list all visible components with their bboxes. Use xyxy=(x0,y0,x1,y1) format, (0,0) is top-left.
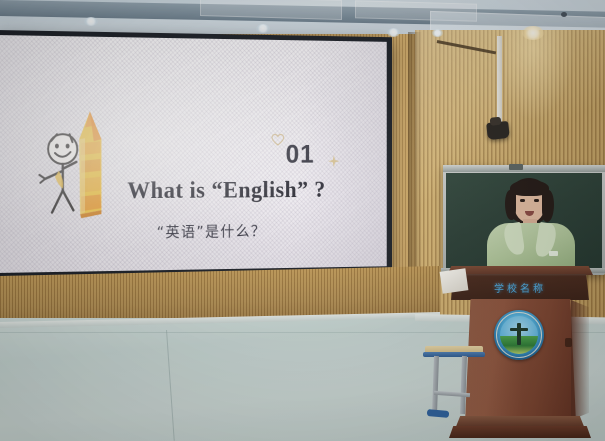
ceiling-downlight-icon xyxy=(256,24,270,33)
desk-leg xyxy=(432,356,439,414)
classroom-scene: 01 What is “English” ? “英语”是什么？ xyxy=(0,0,605,441)
podium-knob-icon xyxy=(565,338,572,347)
pencil-icon xyxy=(72,110,107,221)
heart-outline-icon xyxy=(270,132,285,146)
slide-title-chinese: “英语”是什么？ xyxy=(157,219,359,242)
sparkle-icon xyxy=(328,155,340,167)
jacket-logo xyxy=(549,251,558,256)
paper-sheet xyxy=(440,268,469,293)
wall-camera-icon xyxy=(486,121,510,140)
presenter-eye xyxy=(520,199,525,202)
chalkboard-rail xyxy=(443,165,605,172)
desk-foot xyxy=(427,409,450,418)
led-screen-bezel: 01 What is “English” ? “英语”是什么？ xyxy=(0,30,392,280)
chalkboard-clip-icon xyxy=(509,164,523,170)
presenter-hair-side xyxy=(542,190,554,222)
school-emblem-icon xyxy=(494,310,544,360)
student-desk xyxy=(425,346,483,428)
desk-edge-trim xyxy=(423,352,485,357)
led-screen[interactable]: 01 What is “English” ? “英语”是什么？ xyxy=(0,35,387,273)
slide-section-number: 01 xyxy=(286,140,315,170)
slide-title-english: What is “English” ? xyxy=(127,178,348,205)
desk-leg xyxy=(460,356,467,414)
ceiling-downlight-icon xyxy=(84,17,98,26)
podium-side xyxy=(571,300,589,420)
podium-banner-text: 学校名称 xyxy=(451,280,589,295)
presenter-eye xyxy=(534,199,539,202)
wall-downlight-icon xyxy=(522,26,544,40)
podium-top xyxy=(447,266,593,275)
ceiling-sensor-icon xyxy=(561,12,567,17)
presenter-hair-side xyxy=(505,190,516,220)
presentation-slide: 01 What is “English” ? “英语”是什么？ xyxy=(0,35,387,273)
ceiling-downlight-icon xyxy=(387,28,400,37)
podium-front-banner: 学校名称 xyxy=(451,274,589,300)
emblem-ring xyxy=(496,312,542,358)
ceiling-downlight-icon xyxy=(432,29,443,37)
